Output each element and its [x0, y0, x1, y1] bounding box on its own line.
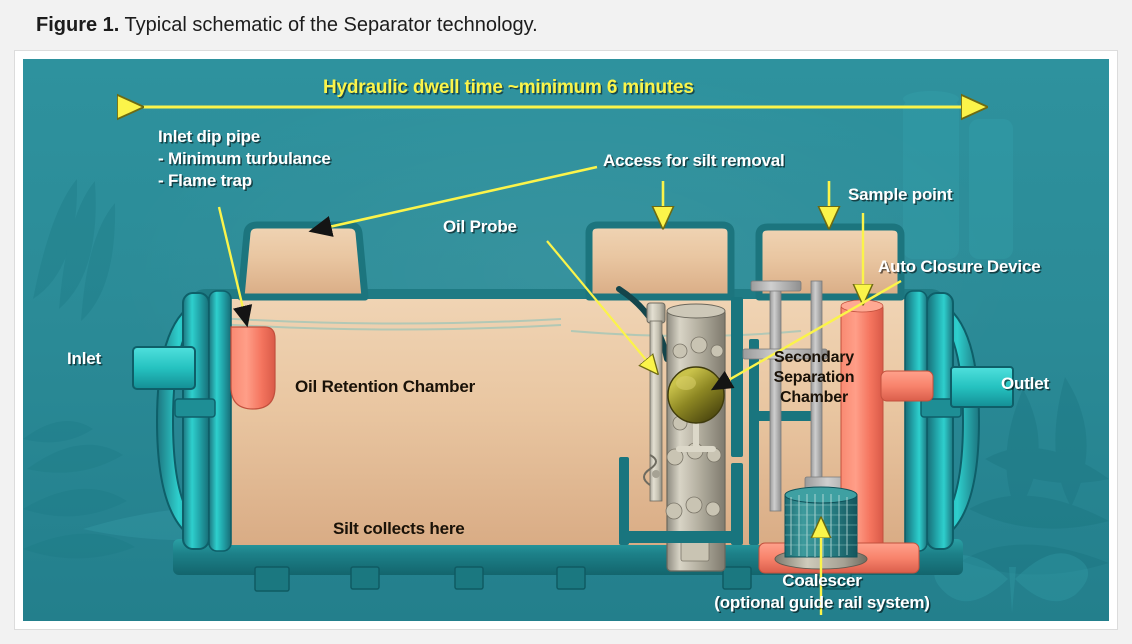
auto-closure-float-ball — [668, 367, 724, 423]
inlet-dip-pipe — [231, 327, 275, 409]
silt-collects-here-label: Silt collects here — [333, 519, 465, 538]
secondary-chamber-label-line2: Separation — [753, 369, 875, 387]
secondary-chamber-label-line3: Chamber — [753, 389, 875, 407]
branch-pipe — [881, 371, 933, 401]
figure-number: Figure 1. — [36, 14, 119, 37]
coalescer-label-line1: Coalescer — [713, 571, 931, 590]
sample-point-label: Sample point — [848, 185, 952, 204]
oil-retention-chamber-label: Oil Retention Chamber — [295, 377, 475, 396]
tank-right-endcap — [905, 291, 979, 551]
tank-left-endcap — [157, 291, 231, 551]
outlet-label: Outlet — [1001, 374, 1049, 393]
figure-caption: Figure 1. Typical schematic of the Separ… — [0, 0, 1132, 50]
inlet-dip-pipe-label-line1: Inlet dip pipe — [158, 127, 260, 146]
inlet-dip-pipe-label-line3: - Flame trap — [158, 171, 252, 190]
inlet-pipe — [133, 347, 195, 389]
page-root: Figure 1. Typical schematic of the Separ… — [0, 0, 1132, 644]
access-riser-left — [241, 225, 365, 297]
dwell-time-banner: Hydraulic dwell time ~minimum 6 minutes — [323, 77, 694, 99]
auto-closure-device-label: Auto Closure Device — [878, 257, 1040, 276]
inlet-dip-pipe-label-line2: - Minimum turbulance — [158, 149, 331, 168]
access-riser-centre — [589, 225, 731, 297]
coalescer-label-line2: (optional guide rail system) — [645, 593, 999, 612]
schematic-canvas: Hydraulic dwell time ~minimum 6 minutes … — [23, 59, 1109, 621]
oil-probe-label: Oil Probe — [443, 217, 517, 236]
caption-text: Typical schematic of the Separator techn… — [119, 14, 537, 37]
access-silt-removal-label: Access for silt removal — [603, 151, 785, 170]
inlet-label: Inlet — [67, 349, 101, 368]
figure-frame: Hydraulic dwell time ~minimum 6 minutes … — [14, 50, 1118, 630]
secondary-chamber-label-line1: Secondary — [753, 349, 875, 367]
